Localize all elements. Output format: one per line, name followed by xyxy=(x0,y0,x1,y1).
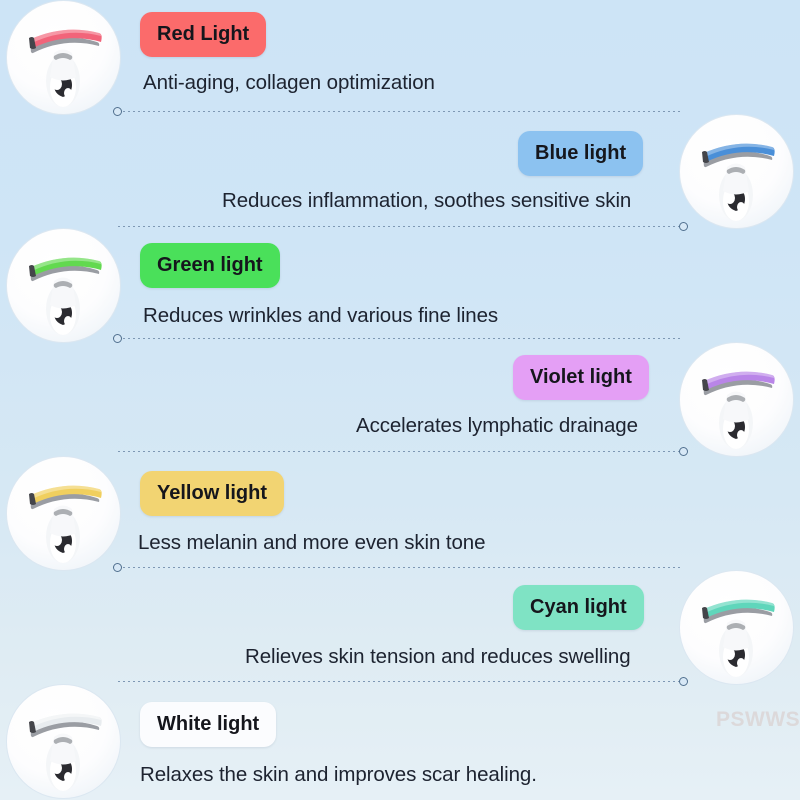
mode-label-violet[interactable]: Violet light xyxy=(513,355,649,400)
mode-description-red: Anti-aging, collagen optimization xyxy=(143,71,435,95)
mode-label-white[interactable]: White light xyxy=(140,702,276,747)
mode-row-green: Green light Reduces wrinkles and various… xyxy=(0,228,800,342)
connector-line xyxy=(118,451,688,452)
mode-row-yellow: Yellow light Less melanin and more even … xyxy=(0,456,800,570)
product-photo-cyan xyxy=(679,570,794,685)
mode-row-cyan: Cyan light Relieves skin tension and red… xyxy=(0,570,800,684)
product-photo-white xyxy=(6,684,121,799)
product-photo-red xyxy=(6,0,121,115)
connector-line xyxy=(113,111,683,112)
product-photo-blue xyxy=(679,114,794,229)
led-therapy-modes-infographic: Red Light Anti-aging, collagen optimizat… xyxy=(0,0,800,800)
mode-description-yellow: Less melanin and more even skin tone xyxy=(138,531,485,555)
product-photo-yellow xyxy=(6,456,121,571)
mode-description-blue: Reduces inflammation, soothes sensitive … xyxy=(222,189,631,213)
mode-label-blue[interactable]: Blue light xyxy=(518,131,643,176)
connector-line xyxy=(118,226,688,227)
mode-description-cyan: Relieves skin tension and reduces swelli… xyxy=(245,645,631,669)
mode-label-yellow[interactable]: Yellow light xyxy=(140,471,284,516)
watermark: PSWWSP xyxy=(716,708,800,732)
mode-label-cyan[interactable]: Cyan light xyxy=(513,585,644,630)
mode-description-violet: Accelerates lymphatic drainage xyxy=(356,414,638,438)
mode-label-green[interactable]: Green light xyxy=(140,243,280,288)
connector-line xyxy=(113,567,683,568)
mode-label-red[interactable]: Red Light xyxy=(140,12,266,57)
mode-description-white: Relaxes the skin and improves scar heali… xyxy=(140,763,537,787)
mode-row-violet: Violet light Accelerates lymphatic drain… xyxy=(0,342,800,456)
mode-row-red: Red Light Anti-aging, collagen optimizat… xyxy=(0,0,800,114)
mode-row-white: White light Relaxes the skin and improve… xyxy=(0,684,800,798)
product-photo-violet xyxy=(679,342,794,457)
connector-line xyxy=(118,681,688,682)
connector-dot xyxy=(679,447,688,456)
product-photo-green xyxy=(6,228,121,343)
mode-description-green: Reduces wrinkles and various fine lines xyxy=(143,304,498,328)
mode-row-blue: Blue light Reduces inflammation, soothes… xyxy=(0,114,800,228)
connector-line xyxy=(113,338,683,339)
connector-violet xyxy=(118,447,688,456)
